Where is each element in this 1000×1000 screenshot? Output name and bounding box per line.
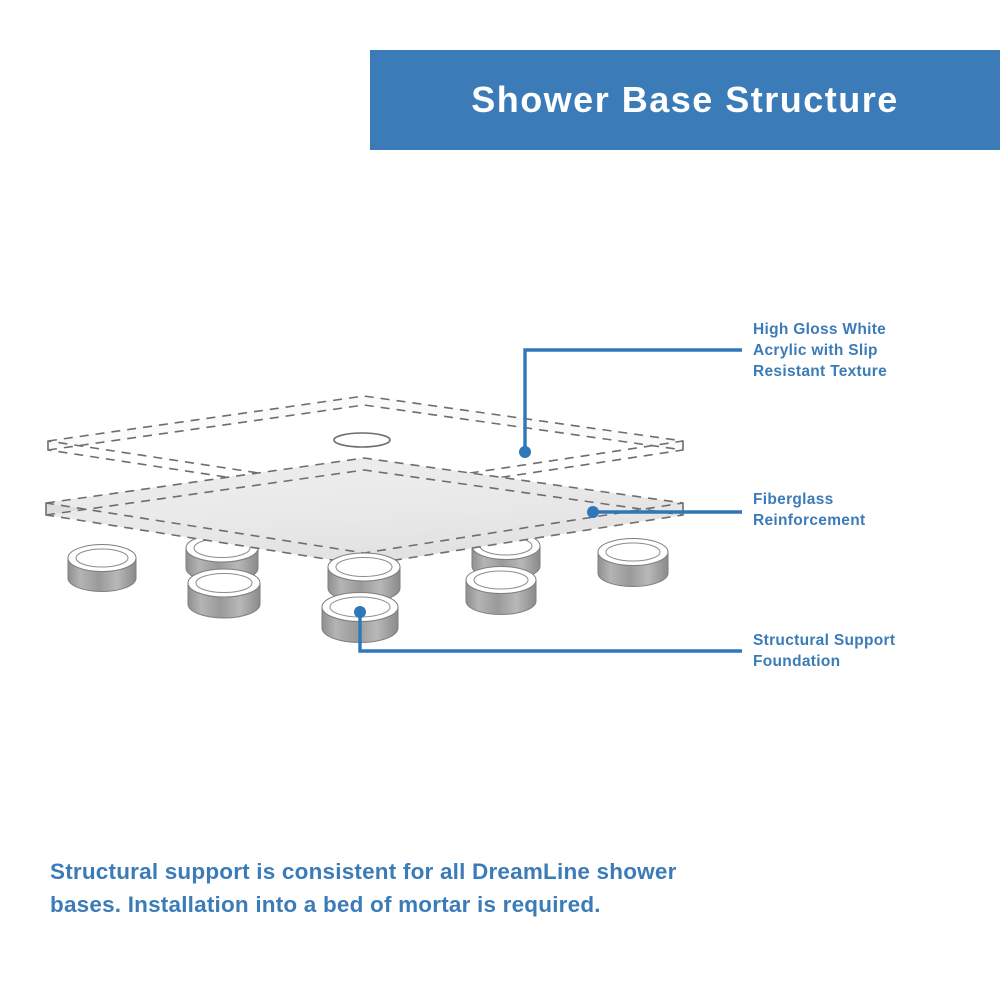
support-ring [466, 567, 536, 615]
footer-caption: Structural support is consistent for all… [50, 855, 690, 921]
callout-label-acrylic: High Gloss White Acrylic with Slip Resis… [753, 319, 983, 382]
leader-line-support [354, 606, 742, 651]
shower-base-diagram: High Gloss White Acrylic with Slip Resis… [0, 0, 1000, 1000]
support-ring [188, 569, 260, 618]
callout-label-support: Structural Support Foundation [753, 630, 983, 672]
callout-label-fiberglass: Fiberglass Reinforcement [753, 489, 983, 531]
support-ring [68, 545, 136, 592]
drain-opening [334, 433, 390, 447]
support-ring [598, 539, 668, 587]
